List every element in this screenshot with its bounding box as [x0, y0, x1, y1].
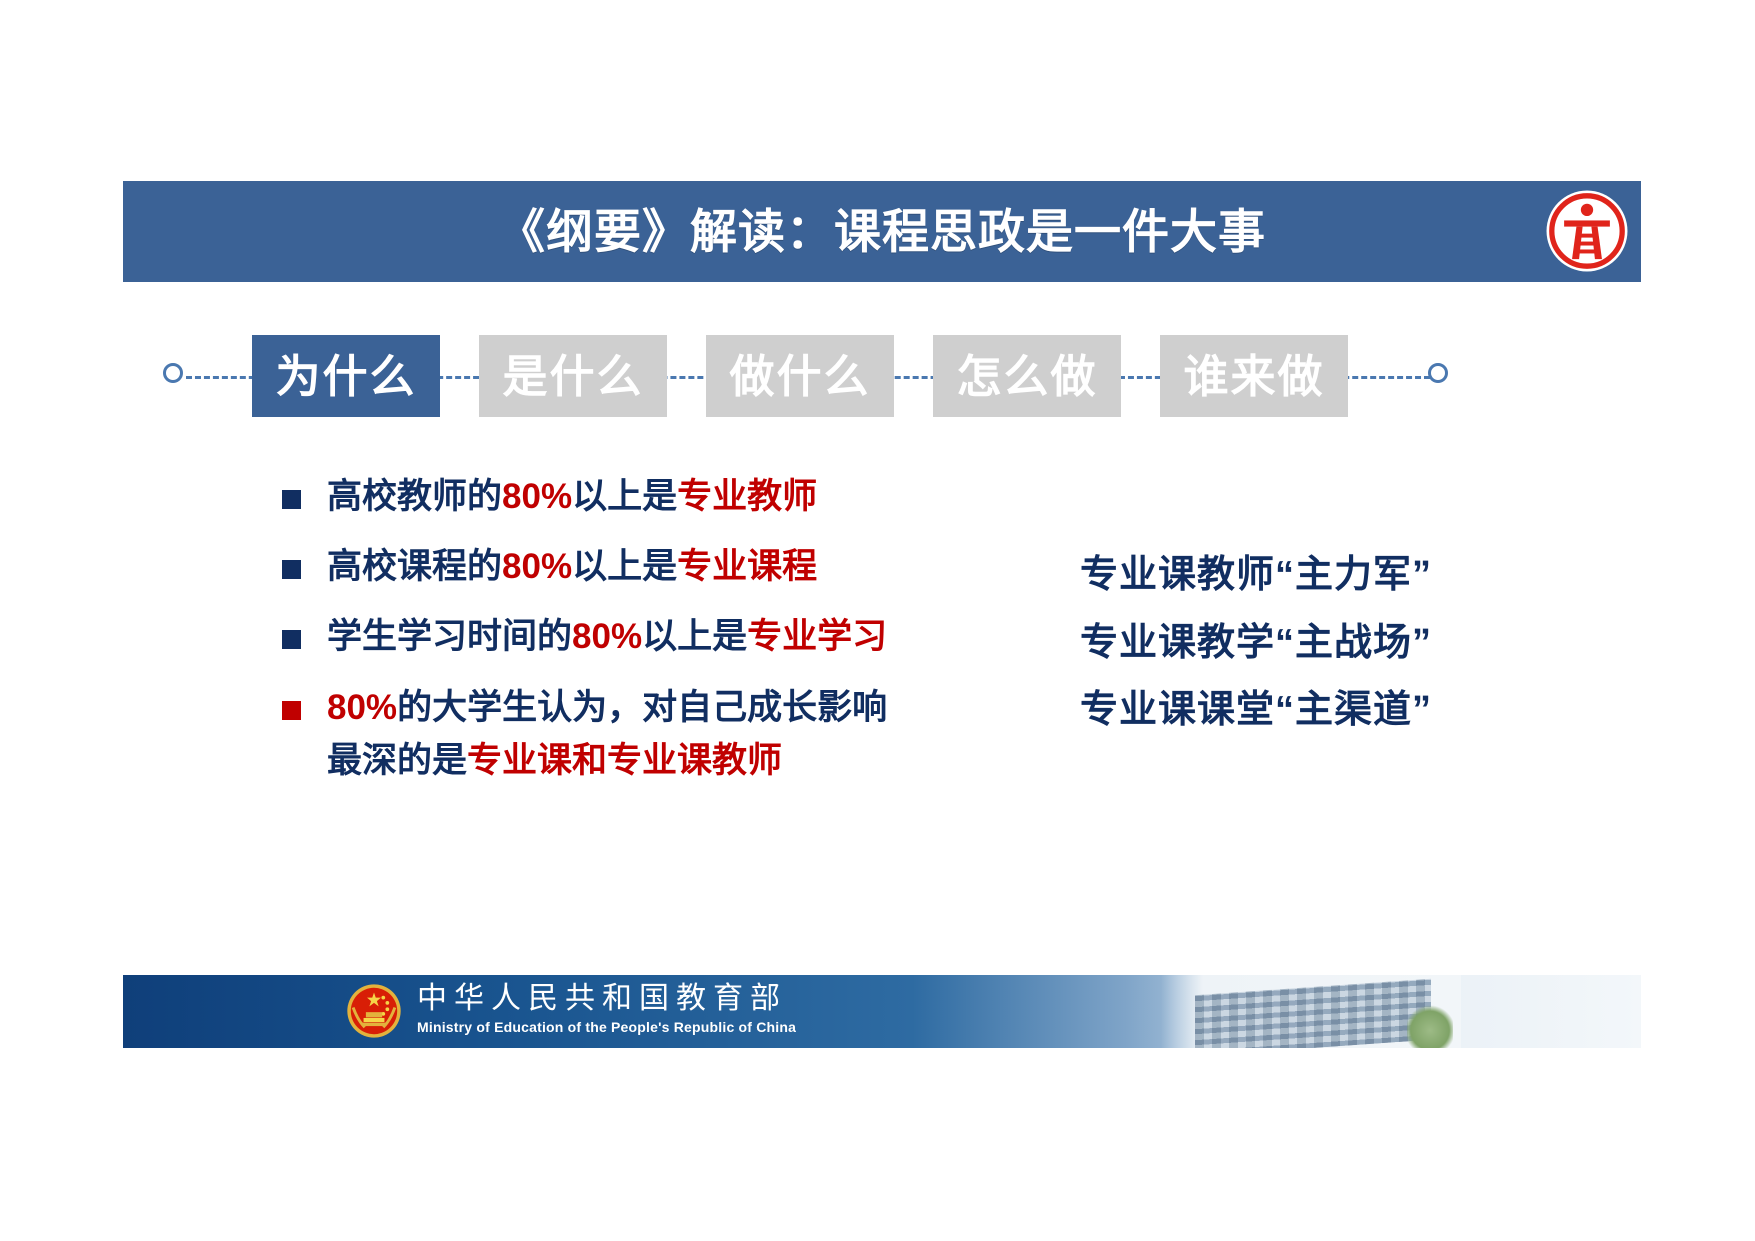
slide-title-bar: 《纲要》解读：课程思政是一件大事: [123, 181, 1641, 282]
right-column: 专业课教师“主力军” 专业课教学“主战场” 专业课课堂“主渠道”: [1080, 542, 1600, 745]
slide-content: 高校教师的80%以上是专业教师 高校课程的80%以上是专业课程 学生学习时间的8…: [0, 470, 1755, 870]
moe-building-photo: [1161, 975, 1461, 1048]
step-item-how[interactable]: 怎么做: [933, 335, 1121, 417]
bullet-text: 高校教师的80%以上是专业教师: [327, 470, 817, 523]
slide-canvas: 《纲要》解读：课程思政是一件大事 为什么 是什么 做什么 怎么做 谁来做: [0, 0, 1755, 1241]
step-item-what[interactable]: 是什么: [479, 335, 667, 417]
bullet-segment-highlight: 专业教师: [677, 477, 817, 516]
footer-org-name-en: Ministry of Education of the People's Re…: [417, 1019, 796, 1036]
bullet-segment-highlight: 80%: [327, 688, 397, 727]
page-title: 《纲要》解读：课程思政是一件大事: [498, 208, 1266, 255]
step-label: 为什么: [275, 354, 416, 399]
step-item-do-what[interactable]: 做什么: [706, 335, 894, 417]
bullet-marker-icon: [282, 630, 301, 649]
bullet-marker-icon: [282, 560, 301, 579]
bullet-segment: 最深的是: [327, 741, 467, 780]
footer-bar: 中华人民共和国教育部 Ministry of Education of the …: [123, 975, 1641, 1048]
xjtu-emblem-icon: [1543, 187, 1631, 275]
step-label: 做什么: [729, 354, 870, 399]
list-item: 学生学习时间的80%以上是专业学习: [282, 610, 982, 663]
step-nav[interactable]: 为什么 是什么 做什么 怎么做 谁来做: [160, 330, 1460, 440]
bullet-segment-highlight: 专业课程: [677, 547, 817, 586]
bullet-segment-highlight: 80%: [572, 617, 642, 656]
bullet-segment: 的大学生认为，对自己成长影响: [397, 688, 887, 727]
bullet-segment: 以上是: [572, 547, 677, 586]
bullet-text: 高校课程的80%以上是专业课程: [327, 540, 817, 593]
bullet-segment-highlight: 80%: [502, 547, 572, 586]
bullet-list: 高校教师的80%以上是专业教师 高校课程的80%以上是专业课程 学生学习时间的8…: [282, 470, 982, 804]
bullet-marker-icon: [282, 490, 301, 509]
national-emblem-icon: [345, 982, 403, 1040]
step-label: 是什么: [502, 354, 643, 399]
bullet-segment: 以上是: [642, 617, 747, 656]
list-item: 80%的大学生认为，对自己成长影响最深的是专业课和专业课教师: [282, 681, 982, 787]
step-label: 谁来做: [1183, 354, 1324, 399]
bullet-segment: 学生学习时间的: [327, 617, 572, 656]
step-endcap-left-icon: [163, 363, 183, 383]
right-column-line-1: 专业课教师“主力军”: [1080, 542, 1600, 610]
step-list: 为什么 是什么 做什么 怎么做 谁来做: [252, 330, 1407, 422]
bullet-text: 80%的大学生认为，对自己成长影响最深的是专业课和专业课教师: [327, 681, 887, 787]
bullet-segment-highlight: 80%: [502, 477, 572, 516]
bullet-segment: 高校教师的: [327, 477, 502, 516]
bullet-segment-highlight: 专业课和专业课教师: [467, 741, 782, 780]
list-item: 高校课程的80%以上是专业课程: [282, 540, 982, 593]
step-label: 怎么做: [956, 354, 1097, 399]
bullet-segment: 以上是: [572, 477, 677, 516]
bullet-marker-icon: [282, 701, 301, 720]
step-item-why[interactable]: 为什么: [252, 335, 440, 417]
bullet-segment: 高校课程的: [327, 547, 502, 586]
footer-org-name-cn: 中华人民共和国教育部: [417, 981, 796, 1017]
step-item-who[interactable]: 谁来做: [1160, 335, 1348, 417]
bullet-text: 学生学习时间的80%以上是专业学习: [327, 610, 887, 663]
right-column-line-3: 专业课课堂“主渠道”: [1080, 677, 1600, 745]
bullet-segment-highlight: 专业学习: [747, 617, 887, 656]
step-endcap-right-icon: [1428, 363, 1448, 383]
right-column-line-2: 专业课教学“主战场”: [1080, 610, 1600, 678]
footer-org-block: 中华人民共和国教育部 Ministry of Education of the …: [417, 981, 796, 1036]
list-item: 高校教师的80%以上是专业教师: [282, 470, 982, 523]
